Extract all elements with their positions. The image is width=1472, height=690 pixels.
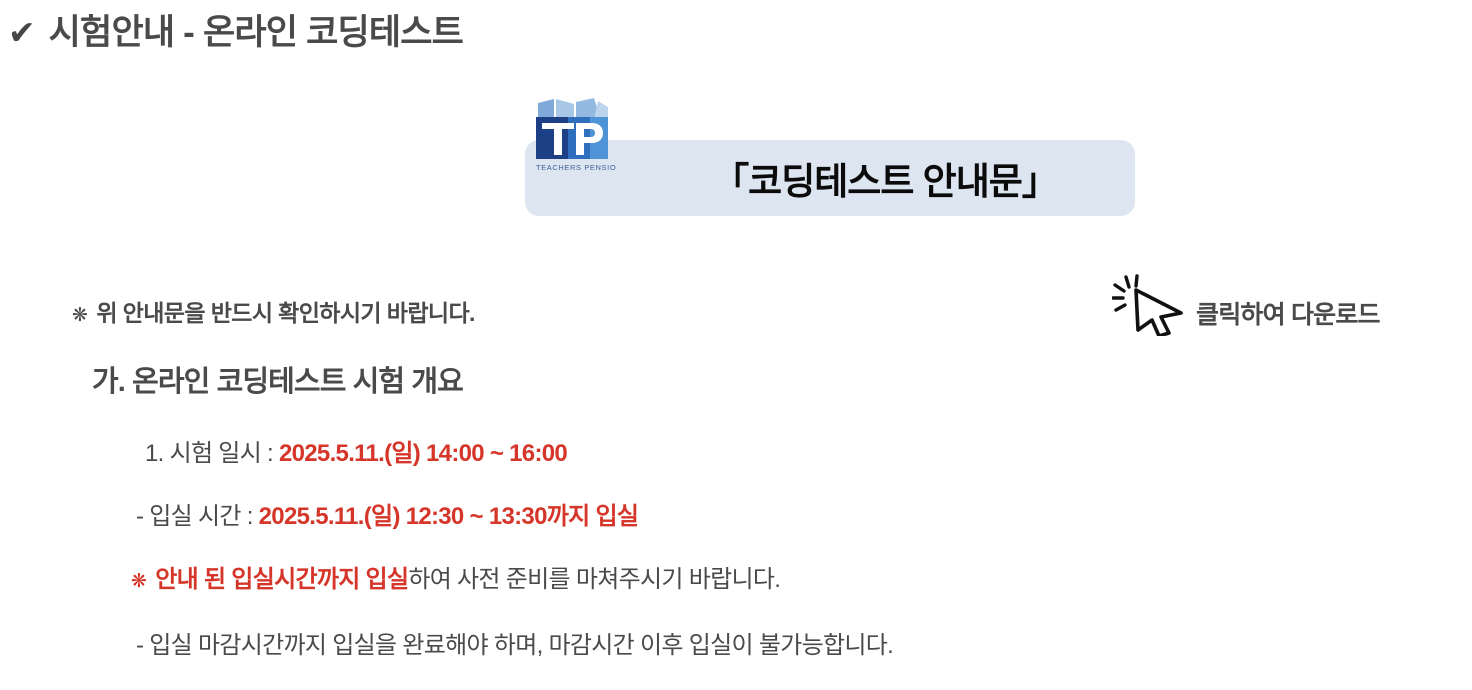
click-cursor-icon xyxy=(1112,274,1190,336)
download-banner[interactable]: 「코딩테스트 안내문」 TEACHERS PENSION xyxy=(0,92,1472,252)
list-item-entry-warning: ❋ 안내 된 입실시간까지 입실하여 사전 준비를 마쳐주시기 바랍니다. xyxy=(131,564,780,595)
check-icon: ✔ xyxy=(8,16,36,49)
page-root: ✔ 시험안내 - 온라인 코딩테스트 「코딩테스트 안내문」 T xyxy=(0,0,1472,690)
notice-text: 위 안내문을 반드시 확인하시기 바랍니다. xyxy=(96,294,474,328)
asterisk-icon: ❋ xyxy=(131,572,146,591)
list-item-exam-datetime: 1. 시험 일시 : 2025.5.11.(일) 14:00 ~ 16:00 xyxy=(145,438,567,469)
teachers-pension-logo: TEACHERS PENSION xyxy=(528,97,616,175)
svg-text:TEACHERS PENSION: TEACHERS PENSION xyxy=(536,163,616,172)
asterisk-icon: ❋ xyxy=(72,306,87,325)
banner-label[interactable]: 「코딩테스트 안내문」 xyxy=(525,140,1135,216)
download-hint-label: 클릭하여 다운로드 xyxy=(1196,295,1380,331)
item-emphasis: 2025.5.11.(일) 14:00 ~ 16:00 xyxy=(279,440,567,467)
list-item-entry-time: - 입실 시간 : 2025.5.11.(일) 12:30 ~ 13:30까지 … xyxy=(136,501,638,532)
item-label: - 입실 마감시간까지 입실을 완료해야 하며, 마감시간 이후 입실이 불가능… xyxy=(136,632,893,659)
page-title: 시험안내 - 온라인 코딩테스트 xyxy=(49,12,463,54)
item-tail: 하여 사전 준비를 마쳐주시기 바랍니다. xyxy=(408,566,780,593)
list-item-entry-deadline: - 입실 마감시간까지 입실을 완료해야 하며, 마감시간 이후 입실이 불가능… xyxy=(136,630,893,661)
item-label: 1. 시험 일시 : xyxy=(145,440,279,467)
item-emphasis: 2025.5.11.(일) 12:30 ~ 13:30까지 입실 xyxy=(259,503,639,530)
notice-line: ❋ 위 안내문을 반드시 확인하시기 바랍니다. xyxy=(72,294,475,328)
section-heading: 가. 온라인 코딩테스트 시험 개요 xyxy=(92,358,463,400)
item-emphasis: 안내 된 입실시간까지 입실 xyxy=(155,566,408,593)
item-label: - 입실 시간 : xyxy=(136,503,259,530)
page-header: ✔ 시험안내 - 온라인 코딩테스트 xyxy=(8,12,463,54)
